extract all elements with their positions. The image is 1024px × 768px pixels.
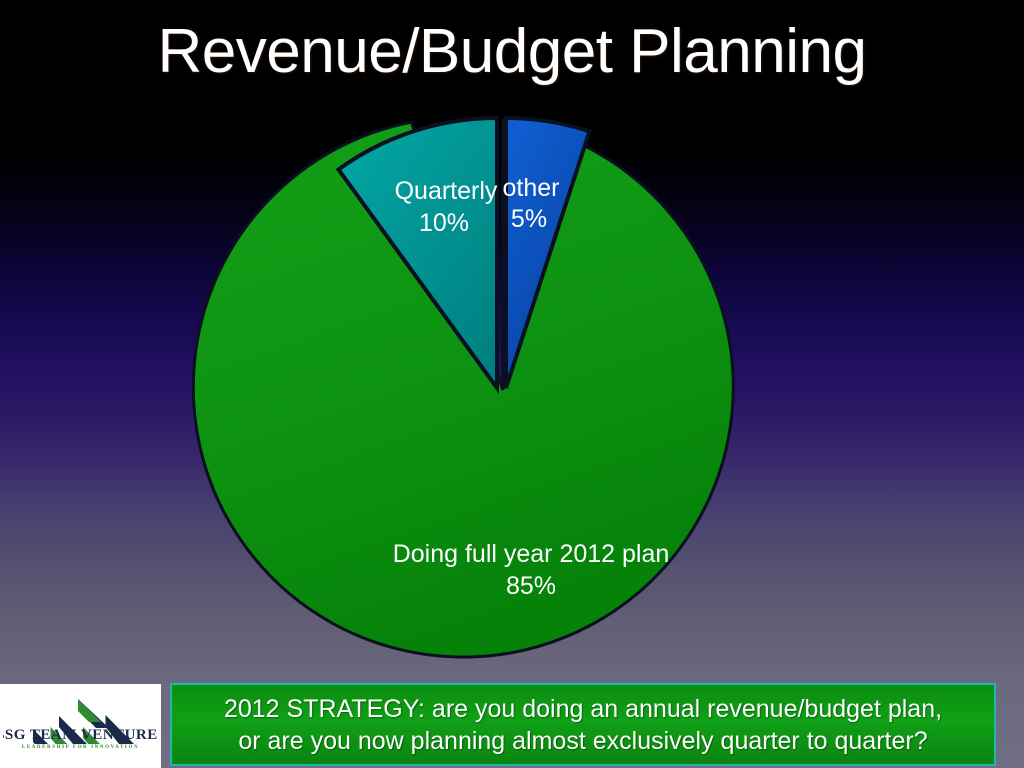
pie-chart-svg: Quarterly 10% other 5% Doing full year 2…: [0, 96, 1024, 676]
pie-label-doing-full-year: Doing full year 2012 plan: [393, 540, 670, 568]
caption-line-1: 2012 STRATEGY: are you doing an annual r…: [224, 693, 942, 725]
svg-text:BSG TEAM VENTURES: BSG TEAM VENTURES: [3, 727, 158, 743]
caption-bar: 2012 STRATEGY: are you doing an annual r…: [170, 683, 996, 766]
caption-line-2: or are you now planning almost exclusive…: [238, 725, 927, 757]
pie-label-quarterly: Quarterly: [395, 177, 498, 205]
bsg-team-ventures-logo-icon: BSG TEAM VENTURES LEADERSHIP FOR INNOVAT…: [3, 696, 158, 758]
pie-value-other: 5%: [511, 205, 547, 233]
pie-label-other: other: [503, 174, 560, 202]
pie-value-doing-full-year: 85%: [506, 572, 556, 600]
pie-chart: Quarterly 10% other 5% Doing full year 2…: [0, 96, 1024, 676]
page-title: Revenue/Budget Planning: [0, 14, 1024, 90]
pie-value-quarterly: 10%: [419, 209, 469, 237]
svg-text:LEADERSHIP FOR INNOVATION: LEADERSHIP FOR INNOVATION: [22, 745, 139, 750]
logo: BSG TEAM VENTURES LEADERSHIP FOR INNOVAT…: [0, 684, 161, 768]
slide-canvas: Revenue/Budget Planning: [0, 0, 1024, 768]
